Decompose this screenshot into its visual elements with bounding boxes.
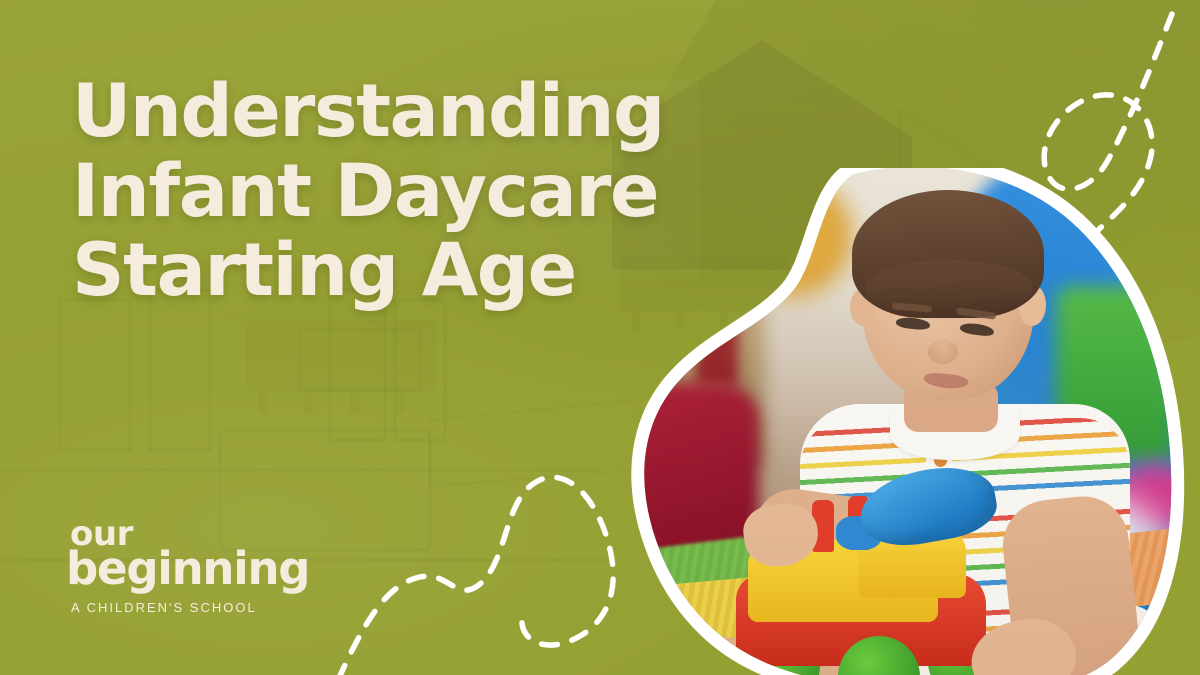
blog-banner: Understanding Infant Daycare Starting Ag… — [0, 0, 1200, 675]
logo-tagline: A CHILDREN'S SCHOOL — [71, 600, 309, 615]
brand-logo[interactable]: our beginning A CHILDREN'S SCHOOL — [66, 519, 309, 615]
page-title: Understanding Infant Daycare Starting Ag… — [72, 72, 752, 311]
headline-line-1: Understanding — [72, 72, 752, 152]
dashed-wave-line-icon — [338, 477, 613, 675]
headline-line-2: Infant Daycare — [72, 152, 752, 232]
headline-line-3: Starting Age — [72, 231, 752, 311]
logo-word-beginning: beginning — [66, 547, 309, 591]
child-hand-left — [740, 499, 822, 571]
child-hand-right — [963, 607, 1085, 675]
